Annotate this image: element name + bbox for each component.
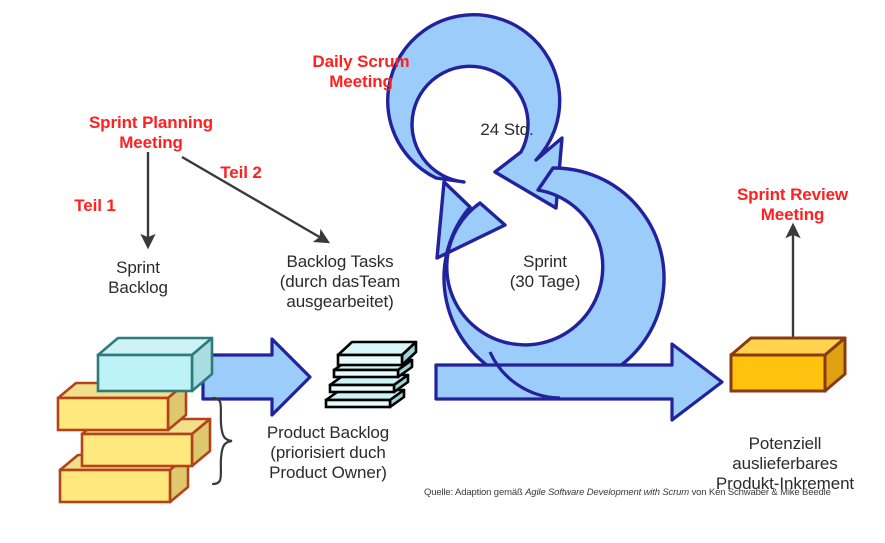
label-daily-scrum-meeting: Daily Scrum Meeting <box>276 52 446 92</box>
source-book-title: Agile Software Development with Scrum <box>525 487 689 498</box>
backlog-tasks-paper-stack <box>326 342 416 407</box>
label-teil-2: Teil 2 <box>203 163 279 183</box>
label-product-backlog: Product Backlog (priorisiert duch Produc… <box>228 423 428 483</box>
label-sprint-planning-meeting: Sprint Planning Meeting <box>46 113 256 153</box>
label-sprint-review-meeting: Sprint Review Meeting <box>705 185 880 225</box>
product-increment-block <box>731 338 845 391</box>
label-teil-1: Teil 1 <box>60 196 130 216</box>
label-backlog-tasks: Backlog Tasks (durch dasTeam ausgearbeit… <box>245 252 435 312</box>
source-prefix: Quelle: Adaption gemäß <box>424 487 525 498</box>
source-suffix: von Ken Schwaber & Mike Beedle <box>689 487 831 498</box>
label-sprint-backlog: Sprint Backlog <box>78 258 198 298</box>
backlog-block-stack <box>58 338 212 502</box>
label-daily-cycle-duration: 24 Std. <box>452 120 562 140</box>
label-product-increment: Potenziell auslieferbares Produkt-Inkrem… <box>690 434 880 494</box>
daily-scrum-cycle-arrow <box>388 15 562 208</box>
label-sprint-cycle-duration: Sprint (30 Tage) <box>480 252 610 292</box>
scrum-diagram-canvas: Daily Scrum Meeting Sprint Planning Meet… <box>0 0 885 543</box>
sprint-backlog-block <box>98 338 212 391</box>
arrow-sprint-backlog-to-tasks <box>203 339 310 415</box>
source-attribution: Quelle: Adaption gemäß Agile Software De… <box>424 487 831 498</box>
